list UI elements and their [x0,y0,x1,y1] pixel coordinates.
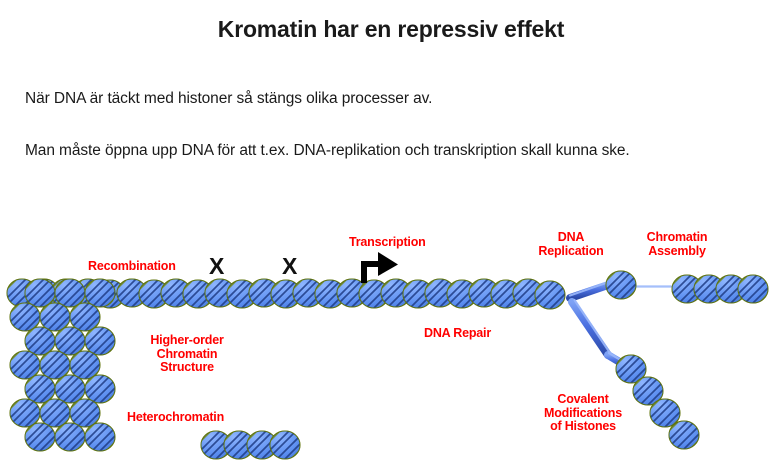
label-heterochromatin: Heterochromatin [127,411,224,425]
chromatin-assembly-strand [599,265,775,310]
body-text-line-2: Man måste öppna upp DNA för att t.ex. DN… [25,142,630,160]
recombination-strand [194,425,307,460]
label-covalent-modifications-of-histones: Covalent Modifications of Histones [528,393,638,434]
label-recombination: Recombination [88,260,176,274]
transcription-arrow-icon [355,252,398,283]
label-transcription: Transcription [349,236,426,250]
label-dna-replication: DNA Replication [528,231,614,258]
label-dna-repair: DNA Repair [424,327,491,341]
crossover-mark-1: X [209,255,224,278]
label-higher-order-chromatin-structure: Higher-order Chromatin Structure [128,334,246,375]
page-title: Kromatin har en repressiv effekt [0,16,782,43]
label-chromatin-assembly: Chromatin Assembly [625,231,729,258]
crossover-mark-2: X [282,255,297,278]
body-text-line-1: När DNA är täckt med histoner så stängs … [25,90,432,108]
chromatin-diagram: Recombination Transcription DNA Replicat… [0,205,782,460]
